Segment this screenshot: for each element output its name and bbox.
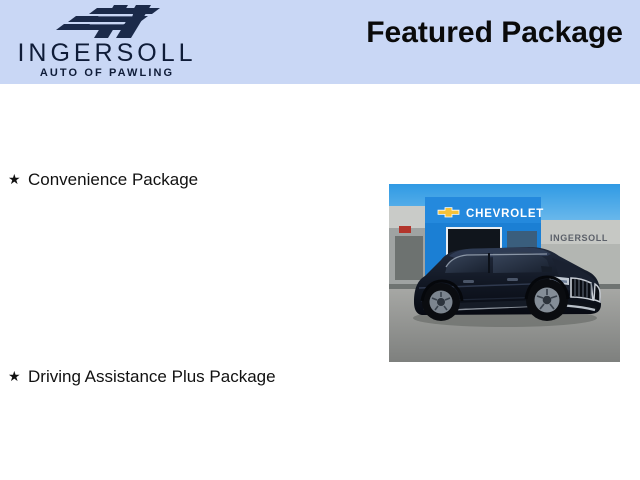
dealer-logo-wordmark: INGERSOLL [4,40,210,66]
svg-text:INGERSOLL: INGERSOLL [550,233,608,243]
list-item: ★ Convenience Package [8,169,198,190]
svg-text:CHEVROLET: CHEVROLET [466,208,544,220]
page-title: Featured Package [366,16,623,50]
package-name: Driving Assistance Plus Package [28,366,276,387]
package-name: Convenience Package [28,169,198,190]
list-item: ★ Driving Assistance Plus Package [8,366,276,387]
dealer-logo[interactable]: INGERSOLL AUTO OF PAWLING [4,2,210,84]
dealer-logo-tagline: AUTO OF PAWLING [4,67,210,79]
star-bullet-icon: ★ [8,366,28,387]
star-bullet-icon: ★ [8,169,28,190]
slide-header: INGERSOLL AUTO OF PAWLING Featured Packa… [0,0,640,84]
ingersoll-winged-if-emblem-icon [56,5,166,39]
vehicle-photo: INGERSOLL CHEVROLET [389,184,620,362]
